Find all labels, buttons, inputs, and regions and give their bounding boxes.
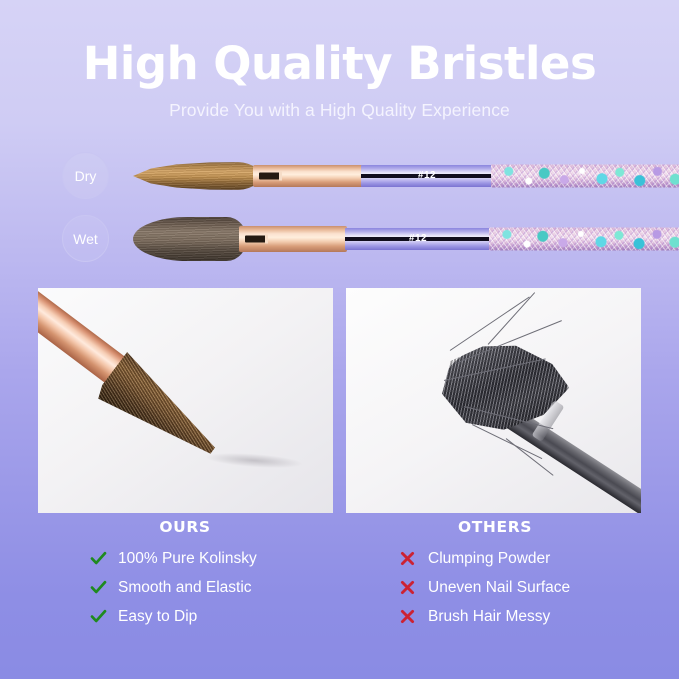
others-heading: OTHERS xyxy=(345,518,645,536)
brush-row-wet: Wet #12 xyxy=(0,208,679,270)
ours-heading: OURS xyxy=(35,518,335,536)
product-infographic: High Quality Bristles Provide You with a… xyxy=(0,0,679,679)
brush-ferrule-wet xyxy=(239,226,347,252)
ferrule-slot xyxy=(259,173,281,180)
state-badge-wet: Wet xyxy=(62,215,109,262)
list-item: Smooth and Elastic xyxy=(90,573,335,602)
brush-bristles-dry xyxy=(133,162,261,191)
list-item: Easy to Dip xyxy=(90,602,335,631)
page-title: High Quality Bristles xyxy=(0,0,679,87)
bristle-texture xyxy=(133,217,247,261)
others-feature-list: Clumping Powder Uneven Nail Surface Brus… xyxy=(345,544,645,631)
check-icon xyxy=(90,580,112,595)
list-item: 100% Pure Kolinsky xyxy=(90,544,335,573)
check-icon xyxy=(90,551,112,566)
feature-label: Clumping Powder xyxy=(422,550,550,568)
cross-icon xyxy=(400,551,422,566)
brush-illustration-wet: #12 xyxy=(133,208,643,270)
feature-label: 100% Pure Kolinsky xyxy=(112,550,257,568)
header: High Quality Bristles Provide You with a… xyxy=(0,0,679,121)
list-item: Brush Hair Messy xyxy=(400,602,645,631)
glitter-chamber-dry xyxy=(491,165,679,188)
feature-comparison: OURS 100% Pure Kolinsky Smooth and Elast… xyxy=(0,518,679,648)
ours-feature-list: 100% Pure Kolinsky Smooth and Elastic Ea… xyxy=(35,544,335,631)
state-badge-dry: Dry xyxy=(62,152,109,199)
list-item: Clumping Powder xyxy=(400,544,645,573)
others-photo xyxy=(346,288,641,513)
list-item: Uneven Nail Surface xyxy=(400,573,645,602)
feature-label: Easy to Dip xyxy=(112,608,197,626)
brush-handle-wet: #12 xyxy=(345,228,491,250)
ferrule-slot xyxy=(245,236,267,243)
check-icon xyxy=(90,609,112,624)
feature-label: Brush Hair Messy xyxy=(422,608,550,626)
cross-icon xyxy=(400,580,422,595)
ours-column: OURS 100% Pure Kolinsky Smooth and Elast… xyxy=(35,518,335,631)
page-subtitle: Provide You with a High Quality Experien… xyxy=(0,87,679,121)
brush-bristles-wet xyxy=(133,217,247,261)
brush-handle-dry: #12 xyxy=(361,165,493,187)
feature-label: Smooth and Elastic xyxy=(112,579,252,597)
brush-ferrule-dry xyxy=(253,165,363,187)
photo-background xyxy=(38,288,333,513)
brush-row-dry: Dry #12 xyxy=(0,145,679,207)
handle-size-label-dry: #12 xyxy=(361,171,493,181)
feature-label: Uneven Nail Surface xyxy=(422,579,570,597)
ours-photo xyxy=(38,288,333,513)
photo-comparison xyxy=(38,288,641,513)
others-column: OTHERS Clumping Powder Uneven Nail Surfa… xyxy=(345,518,645,631)
glitter-chamber-wet xyxy=(489,228,679,251)
cross-icon xyxy=(400,609,422,624)
bristle-texture xyxy=(133,162,261,191)
brush-demo: Dry #12 Wet xyxy=(0,145,679,275)
brush-illustration-dry: #12 xyxy=(133,145,643,207)
handle-size-label-wet: #12 xyxy=(345,234,491,244)
